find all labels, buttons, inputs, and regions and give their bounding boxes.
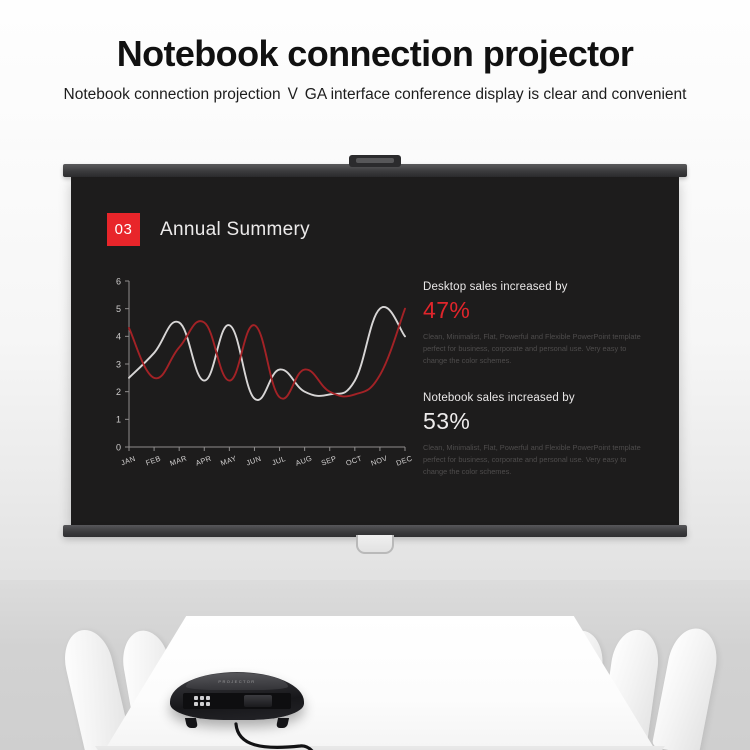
stat-heading: Desktop sales increased by xyxy=(423,281,651,293)
banner-header: Notebook connection projector Notebook c… xyxy=(0,0,750,106)
svg-text:OCT: OCT xyxy=(345,454,364,468)
slide-title: Annual Summery xyxy=(160,219,310,241)
stat-block-desktop: Desktop sales increased by 47% Clean, Mi… xyxy=(423,281,651,368)
svg-text:NOV: NOV xyxy=(370,454,389,468)
svg-text:5: 5 xyxy=(116,304,121,314)
chart-series xyxy=(129,307,405,400)
stat-value: 47% xyxy=(423,297,651,324)
svg-text:MAY: MAY xyxy=(219,454,237,468)
stats-panel: Desktop sales increased by 47% Clean, Mi… xyxy=(423,281,651,502)
projector-brand-label: PROJECTOR xyxy=(218,679,255,684)
svg-text:SEP: SEP xyxy=(320,454,338,468)
projector-lens xyxy=(244,695,272,707)
slide-header: 03 Annual Summery xyxy=(107,213,310,246)
stat-value: 53% xyxy=(423,408,651,435)
svg-text:FEB: FEB xyxy=(145,454,162,468)
presentation-slide: 03 Annual Summery 0123456 JANFEBMARAPRMA… xyxy=(71,177,679,525)
svg-text:0: 0 xyxy=(116,442,121,452)
stat-block-notebook: Notebook sales increased by 53% Clean, M… xyxy=(423,392,651,479)
svg-text:DEC: DEC xyxy=(395,453,413,467)
svg-text:AUG: AUG xyxy=(294,454,313,468)
page-subtitle: Notebook connection projection Ｖ GA inte… xyxy=(50,84,700,106)
svg-text:JUL: JUL xyxy=(271,454,287,467)
stat-heading: Notebook sales increased by xyxy=(423,392,651,404)
slide-number-badge: 03 xyxy=(107,213,140,246)
chart-svg: 0123456 JANFEBMARAPRMAYJUNJULAUGSEPOCTNO… xyxy=(95,275,413,487)
projection-screen: 03 Annual Summery 0123456 JANFEBMARAPRMA… xyxy=(63,164,687,554)
projector-foot xyxy=(185,718,198,728)
page-title: Notebook connection projector xyxy=(0,0,750,74)
stat-description: Clean, Minimalist, Flat, Powerful and Fl… xyxy=(423,442,651,479)
svg-text:4: 4 xyxy=(116,332,121,342)
conference-room-scene: 03 Annual Summery 0123456 JANFEBMARAPRMA… xyxy=(0,150,750,750)
svg-text:1: 1 xyxy=(116,415,121,425)
screen-surface: 03 Annual Summery 0123456 JANFEBMARAPRMA… xyxy=(71,177,679,525)
product-banner: Notebook connection projector Notebook c… xyxy=(0,0,750,750)
projector-foot xyxy=(276,718,289,728)
stat-description: Clean, Minimalist, Flat, Powerful and Fl… xyxy=(423,331,651,368)
projector-device: PROJECTOR xyxy=(170,666,304,728)
svg-text:MAR: MAR xyxy=(169,453,188,467)
screen-mount-bracket xyxy=(349,155,401,167)
svg-text:2: 2 xyxy=(116,387,121,397)
chart-y-ticks xyxy=(125,281,129,447)
chair xyxy=(652,624,723,750)
projector-button-pad[interactable] xyxy=(194,696,210,706)
screen-top-rail xyxy=(63,164,687,177)
chart-x-ticks xyxy=(129,447,405,451)
svg-text:JUN: JUN xyxy=(245,454,262,468)
screen-pull-handle[interactable] xyxy=(356,535,394,554)
svg-text:3: 3 xyxy=(116,359,121,369)
conference-table-edge xyxy=(95,746,665,750)
svg-text:JAN: JAN xyxy=(120,454,137,468)
line-chart: 0123456 JANFEBMARAPRMAYJUNJULAUGSEPOCTNO… xyxy=(95,275,413,487)
svg-text:APR: APR xyxy=(194,454,212,468)
chart-y-labels: 0123456 xyxy=(116,276,121,452)
chart-x-labels: JANFEBMARAPRMAYJUNJULAUGSEPOCTNOVDEC xyxy=(120,453,413,467)
svg-text:6: 6 xyxy=(116,276,121,286)
